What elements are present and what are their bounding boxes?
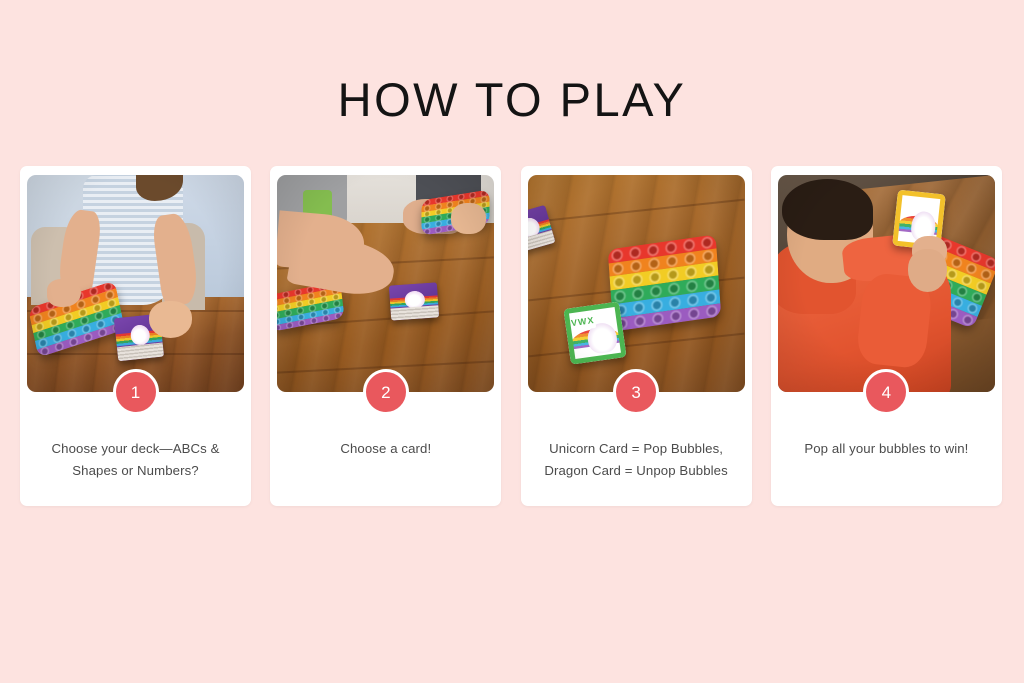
step-card-3[interactable]: VWX 3 Unicorn Card = Pop Bubbles, Dragon… (521, 166, 752, 506)
step-photo-3: VWX (528, 175, 745, 392)
unicorn-card-3: VWX (563, 302, 627, 366)
step-card-2[interactable]: 2 Choose a card! (270, 166, 501, 506)
step-number-badge-4: 4 (863, 369, 909, 415)
card-deck-2 (389, 282, 439, 320)
how-to-play-page: HOW TO PLAY (0, 0, 1024, 683)
step-card-1[interactable]: 1 Choose your deck—ABCs & Shapes or Numb… (20, 166, 251, 506)
step-number-badge-3: 3 (613, 369, 659, 415)
step-card-4[interactable]: 4 Pop all your bubbles to win! (771, 166, 1002, 506)
step-number-badge-1: 1 (113, 369, 159, 415)
step-photo-4 (778, 175, 995, 392)
step-photo-1 (27, 175, 244, 392)
steps-container: 1 Choose your deck—ABCs & Shapes or Numb… (20, 166, 1004, 506)
page-title: HOW TO PLAY (0, 72, 1024, 128)
step-caption-1: Choose your deck—ABCs & Shapes or Number… (34, 438, 237, 482)
step-caption-4: Pop all your bubbles to win! (785, 438, 988, 460)
step-caption-3: Unicorn Card = Pop Bubbles, Dragon Card … (535, 438, 738, 482)
step-photo-2 (277, 175, 494, 392)
popit-toy-3 (608, 235, 721, 333)
step-caption-2: Choose a card! (284, 438, 487, 460)
step-number-badge-2: 2 (363, 369, 409, 415)
